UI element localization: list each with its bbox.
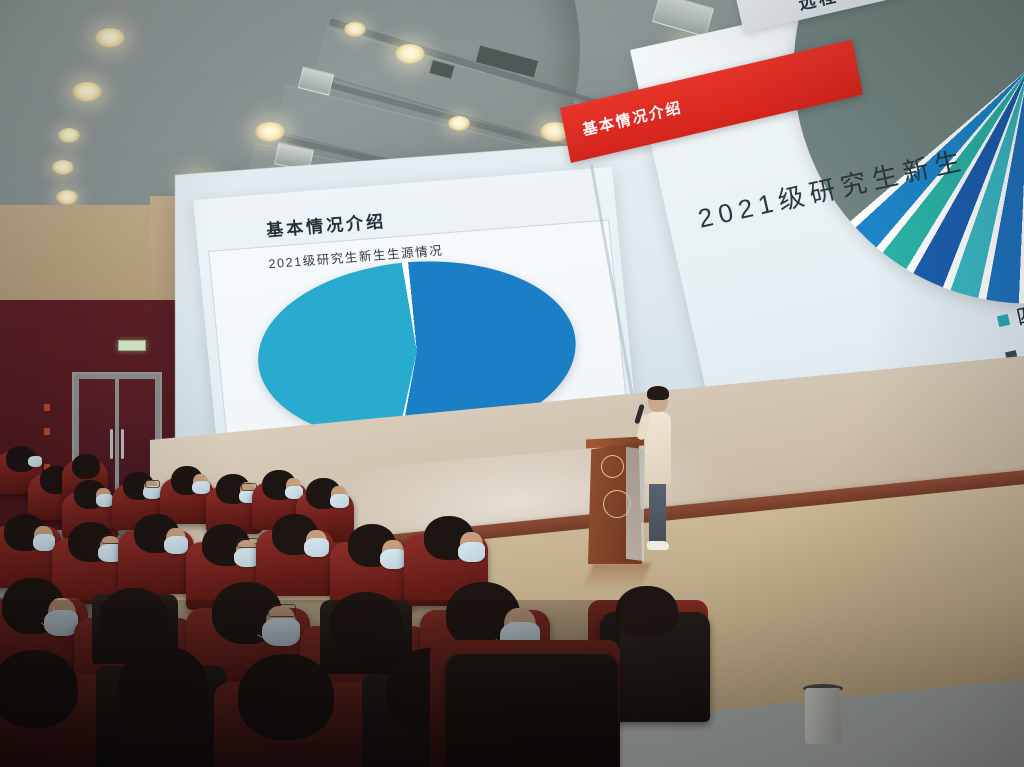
face-mask xyxy=(380,549,406,569)
ceiling-downlight xyxy=(58,128,80,143)
speaker-hair xyxy=(647,386,669,400)
eyeglasses xyxy=(145,480,160,488)
legend-swatch-icon xyxy=(997,313,1010,326)
ceiling-downlight xyxy=(56,190,78,205)
foreground-shadow xyxy=(0,600,620,767)
ceiling-downlight xyxy=(344,22,366,37)
trash-bin xyxy=(805,688,841,744)
ceiling-downlight xyxy=(395,44,425,64)
face-mask xyxy=(164,536,188,554)
face-mask xyxy=(96,494,113,507)
face-mask xyxy=(330,494,349,508)
face-mask xyxy=(192,481,210,494)
banner-primary-label: 基本情况介绍 xyxy=(581,96,684,140)
wall-light-fixture xyxy=(44,404,50,411)
face-mask xyxy=(28,456,42,467)
hvac-vent xyxy=(652,0,714,37)
slide-left-heading: 基本情况介绍 xyxy=(265,207,387,241)
ceiling-downlight xyxy=(95,28,125,48)
face-mask xyxy=(304,538,329,557)
audience-head xyxy=(72,454,100,479)
ceiling-downlight xyxy=(72,82,102,102)
ceiling-downlight xyxy=(52,160,74,175)
face-mask xyxy=(458,542,485,562)
exit-sign xyxy=(118,340,146,351)
audience-head xyxy=(616,586,678,638)
auditorium-photo: 川 四川大学 SICHUAN UNIVERSITY 基本情况介绍 2021级研究… xyxy=(0,0,1024,767)
